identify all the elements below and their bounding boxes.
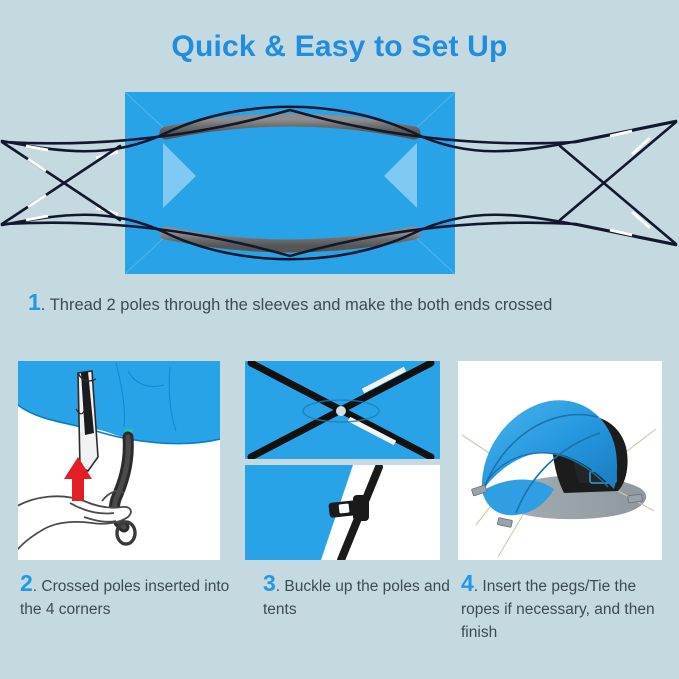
step-3-image-bottom	[245, 465, 440, 560]
step-2-separator: .	[33, 578, 37, 595]
steps-caption-row: 2. Crossed poles inserted into the 4 cor…	[0, 572, 679, 672]
step-2-caption: 2. Crossed poles inserted into the 4 cor…	[20, 572, 235, 621]
step-4-caption: 4. Insert the pegs/Tie the ropes if nece…	[461, 572, 666, 644]
step-1-caption: 1. Thread 2 poles through the sleeves an…	[28, 291, 658, 315]
step-4-text: Insert the pegs/Tie the ropes if necessa…	[461, 578, 655, 641]
page-title: Quick & Easy to Set Up	[0, 30, 679, 64]
step-3-separator: .	[276, 578, 280, 595]
step-3-text: Buckle up the poles and tents	[263, 578, 450, 618]
steps-panel-row	[0, 361, 679, 561]
step-4-separator: .	[474, 578, 478, 595]
step-2-number: 2	[20, 570, 33, 596]
step-3-number: 3	[263, 570, 276, 596]
step-1-separator: .	[41, 296, 46, 314]
step-1-text: Thread 2 poles through the sleeves and m…	[50, 296, 553, 314]
instruction-infographic: Quick & Easy to Set Up	[0, 0, 679, 679]
step-3-image	[245, 361, 440, 560]
step-4-number: 4	[461, 570, 474, 596]
pole-crossing-point	[336, 406, 346, 416]
step1-illustration	[0, 86, 679, 282]
step-2-image	[18, 361, 220, 560]
step-4-image	[458, 361, 662, 560]
step-3-caption: 3. Buckle up the poles and tents	[263, 572, 453, 621]
step-2-text: Crossed poles inserted into the 4 corner…	[20, 578, 229, 618]
step-3-image-top	[245, 361, 440, 459]
step-1-number: 1	[28, 289, 41, 315]
